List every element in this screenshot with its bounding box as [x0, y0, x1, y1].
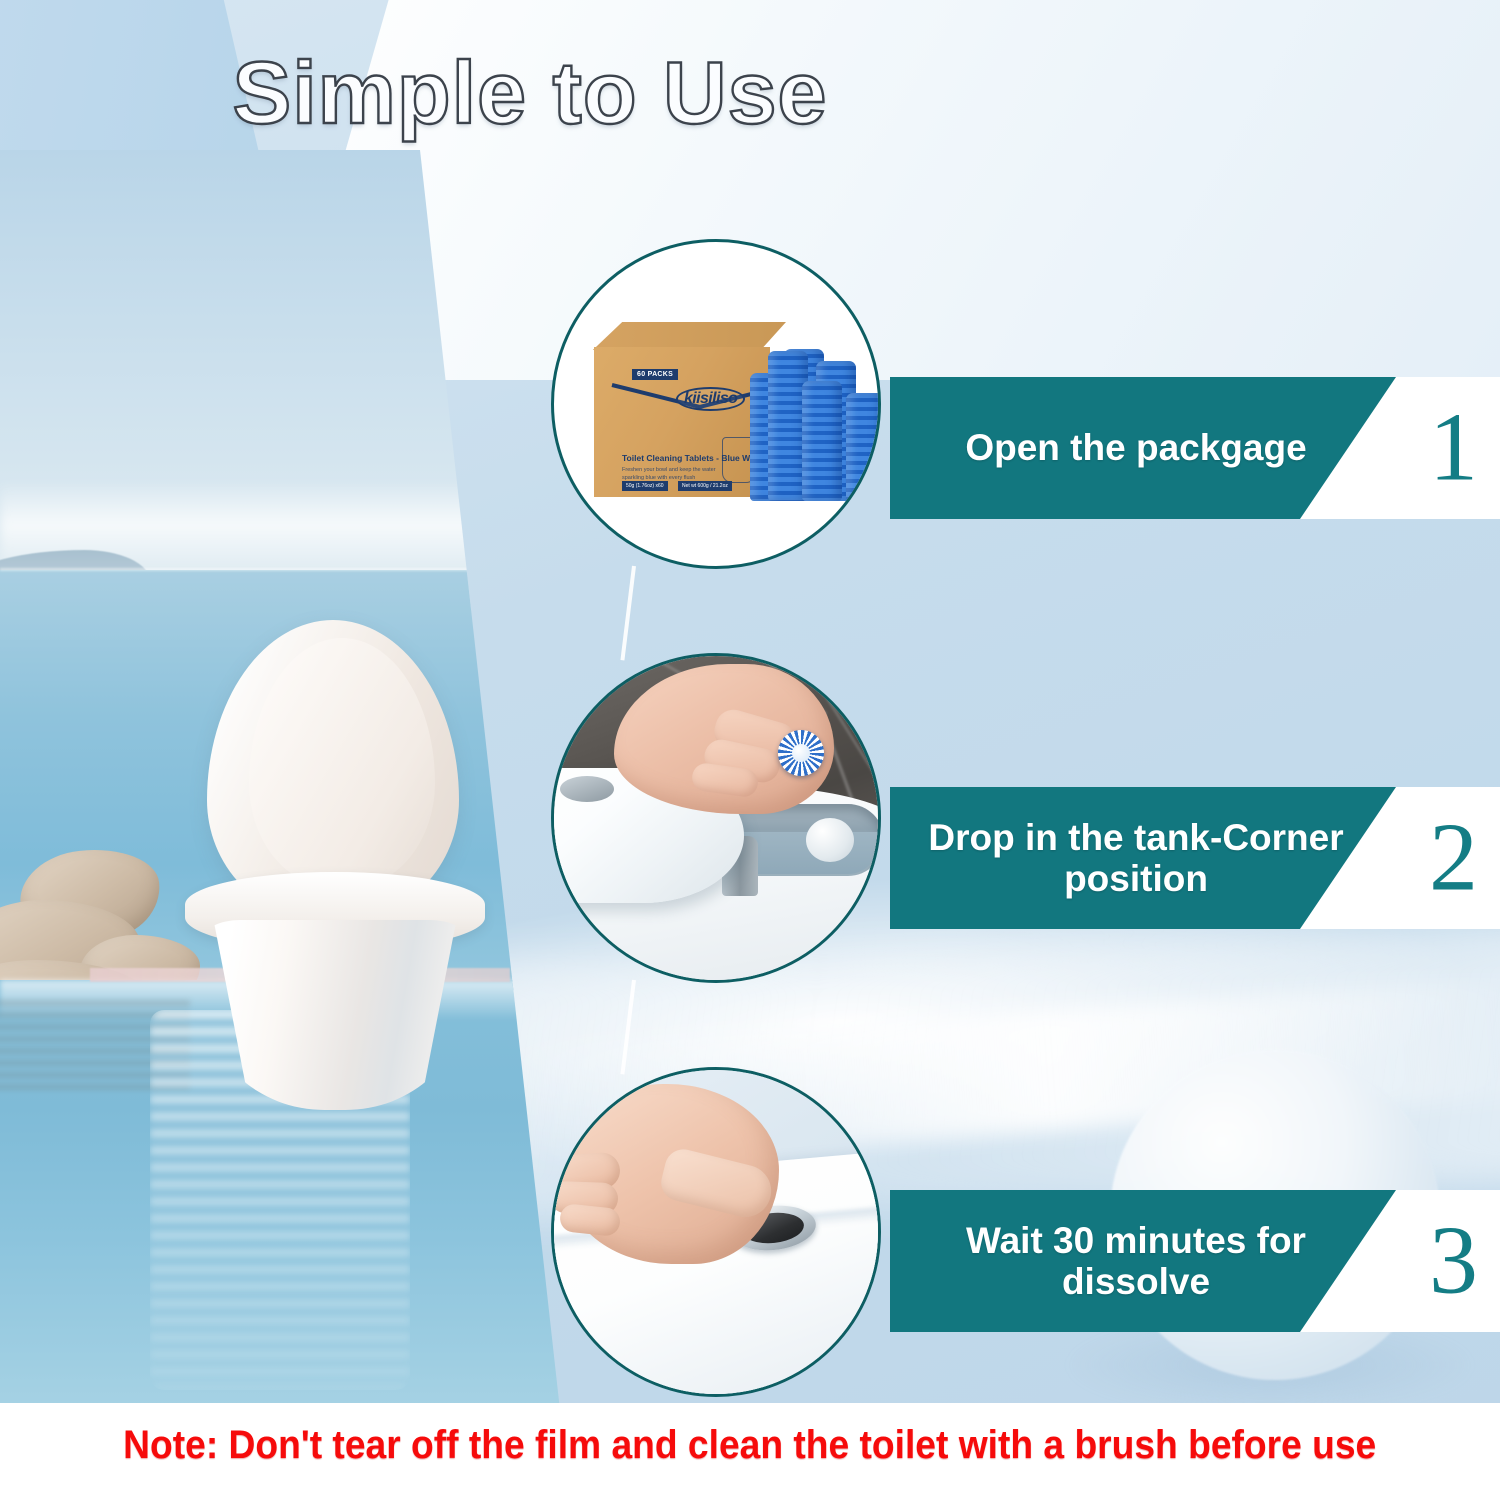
tablet-stack: [846, 393, 881, 501]
step-1-photo-circle: 60 PACKS kiisiliso Toilet Cleaning Table…: [551, 239, 881, 569]
box-brand-logo: kiisiliso: [676, 387, 745, 411]
box-side-panel: [576, 347, 596, 497]
step-1-banner: Open the packgage 1: [890, 377, 1500, 519]
step-3-number: 3: [1429, 1219, 1478, 1302]
step-1-label: Open the packgage: [926, 377, 1346, 519]
step-2-number: 2: [1429, 816, 1478, 899]
footer-bar: Note: Don't tear off the film and clean …: [0, 1403, 1500, 1487]
box-front-panel: 60 PACKS kiisiliso Toilet Cleaning Table…: [594, 347, 770, 497]
usage-note: Note: Don't tear off the film and clean …: [123, 1423, 1376, 1468]
tablet-stacks: [750, 326, 881, 501]
step-3-label: Wait 30 minutes for dissolve: [926, 1190, 1346, 1332]
toilet-illustration: [185, 620, 485, 1040]
step-3-banner: Wait 30 minutes for dissolve 3: [890, 1190, 1500, 1332]
step-2-banner: Drop in the tank-Corner position 2: [890, 787, 1500, 929]
box-chip-left: 50g (1.76oz) x60: [622, 481, 668, 491]
toilet-lid-inner: [249, 638, 435, 888]
step-2-label: Drop in the tank-Corner position: [926, 787, 1346, 929]
tank-float-ball: [806, 818, 854, 862]
page-title: Simple to Use: [0, 42, 1060, 144]
step-1-number: 1: [1429, 406, 1478, 489]
tablet-stack: [802, 381, 842, 501]
tank-flush-button: [560, 776, 614, 802]
infographic-page: Simple to Use 60 PACKS kiisiliso Toilet …: [0, 0, 1500, 1487]
box-chip-right: Net wt 600g / 21.2oz: [678, 481, 732, 491]
step-3-photo-circle: [551, 1067, 881, 1397]
box-packs-badge: 60 PACKS: [632, 369, 678, 380]
cleaning-tablet: [778, 730, 824, 776]
step-2-photo-circle: [551, 653, 881, 983]
